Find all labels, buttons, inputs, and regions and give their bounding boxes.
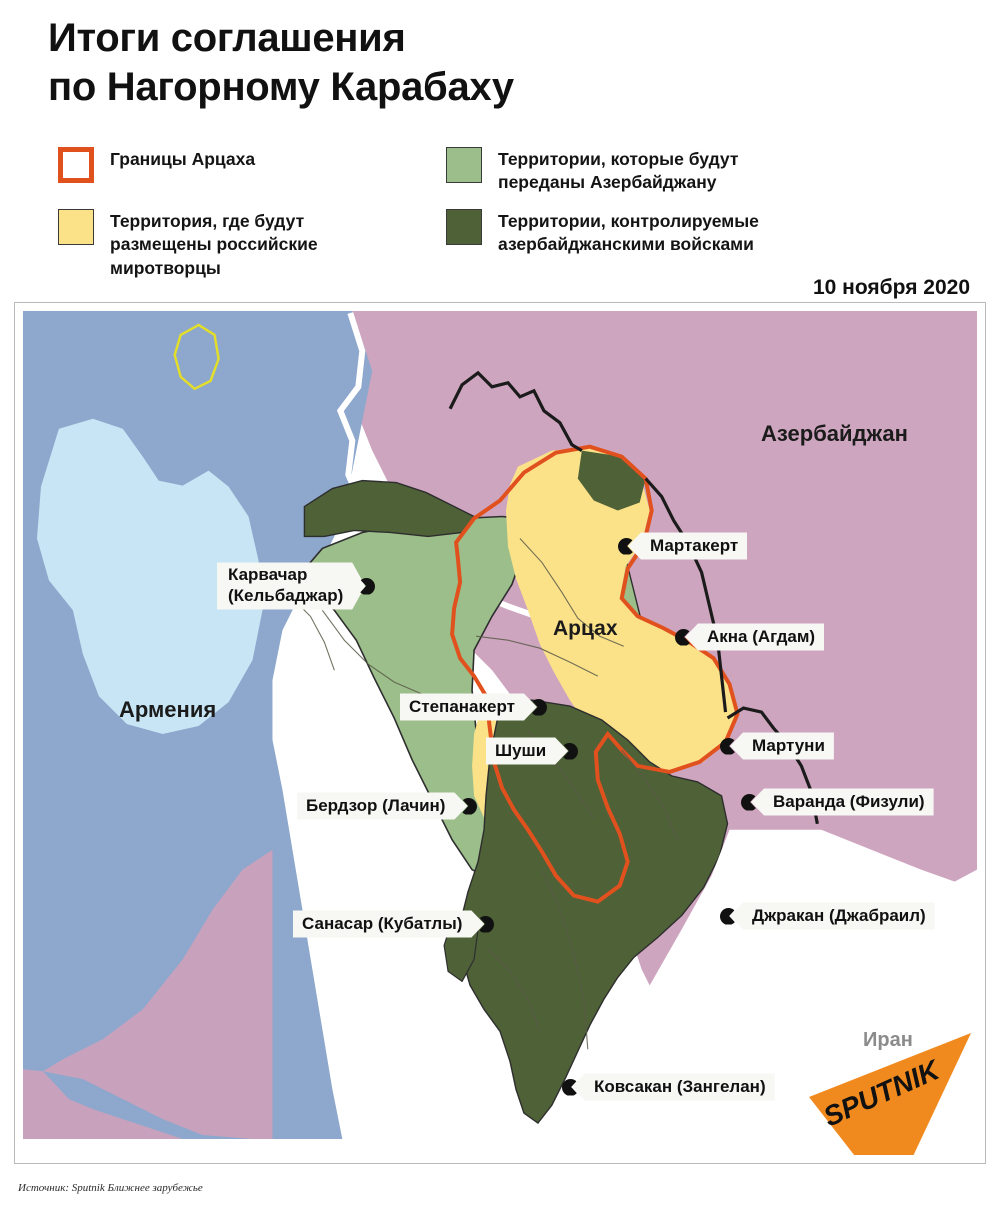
page-title: Итоги соглашения по Нагорному Карабаху: [48, 14, 514, 112]
legend-label-artsakh-borders: Границы Арцаха: [110, 146, 255, 171]
city-label-akna: Акна (Агдам): [685, 623, 824, 650]
city-marker-akna[interactable]: Акна (Агдам): [675, 624, 824, 650]
legend-swatch-to-azerbaijan: [446, 147, 482, 183]
legend-swatch-az-controlled: [446, 209, 482, 245]
infographic-header: Итоги соглашения по Нагорному Карабаху Г…: [0, 0, 1000, 300]
city-label-jrakan: Джракан (Джабраил): [730, 902, 935, 929]
city-label-karvachar: Карвачар (Кельбаджар): [217, 562, 365, 609]
city-marker-jrakan[interactable]: Джракан (Джабраил): [720, 903, 935, 929]
city-marker-stepanakert[interactable]: Степанакерт: [400, 694, 547, 720]
map-frame: Азербайджан Армения Иран Арцах Мартакерт…: [14, 302, 986, 1164]
map-stage[interactable]: Азербайджан Армения Иран Арцах Мартакерт…: [23, 311, 977, 1155]
city-label-shushi: Шуши: [486, 737, 568, 764]
legend-item-az-controlled: Территории, контролируемые азербайджанск…: [446, 208, 866, 257]
city-label-martuni: Мартуни: [730, 732, 834, 759]
legend-item-to-azerbaijan: Территории, которые будут переданы Азерб…: [446, 146, 866, 195]
legend-item-peacekeepers: Территория, где будут размещены российск…: [58, 208, 438, 280]
city-label-kovsakan: Ковсакан (Зангелан): [572, 1073, 775, 1100]
city-marker-varanda[interactable]: Варанда (Физули): [741, 789, 934, 815]
city-label-varanda: Варанда (Физули): [751, 788, 934, 815]
city-marker-shushi[interactable]: Шуши: [486, 738, 578, 764]
city-label-berdzor: Бердзор (Лачин): [297, 792, 467, 819]
city-marker-martuni[interactable]: Мартуни: [720, 733, 834, 759]
legend-swatch-peacekeepers: [58, 209, 94, 245]
legend-item-artsakh-borders: Границы Арцаха: [58, 146, 438, 183]
city-label-sanasar: Санасар (Кубатлы): [293, 910, 484, 937]
city-marker-sanasar[interactable]: Санасар (Кубатлы): [293, 911, 494, 937]
source-note: Источник: Sputnik Ближнее зарубежье: [18, 1182, 203, 1194]
legend-label-peacekeepers: Территория, где будут размещены российск…: [110, 208, 318, 280]
city-marker-kovsakan[interactable]: Ковсакан (Зангелан): [562, 1074, 775, 1100]
legend-label-az-controlled: Территории, контролируемые азербайджанск…: [498, 208, 759, 257]
publication-date: 10 ноября 2020: [813, 276, 970, 300]
city-marker-karvachar[interactable]: Карвачар (Кельбаджар): [217, 563, 375, 609]
legend-label-to-azerbaijan: Территории, которые будут переданы Азерб…: [498, 146, 738, 195]
legend-swatch-artsakh-borders: [58, 147, 94, 183]
city-label-stepanakert: Степанакерт: [400, 693, 537, 720]
city-marker-berdzor[interactable]: Бердзор (Лачин): [297, 793, 477, 819]
city-label-martakert: Мартакерт: [628, 532, 747, 559]
city-marker-martakert[interactable]: Мартакерт: [618, 533, 747, 559]
